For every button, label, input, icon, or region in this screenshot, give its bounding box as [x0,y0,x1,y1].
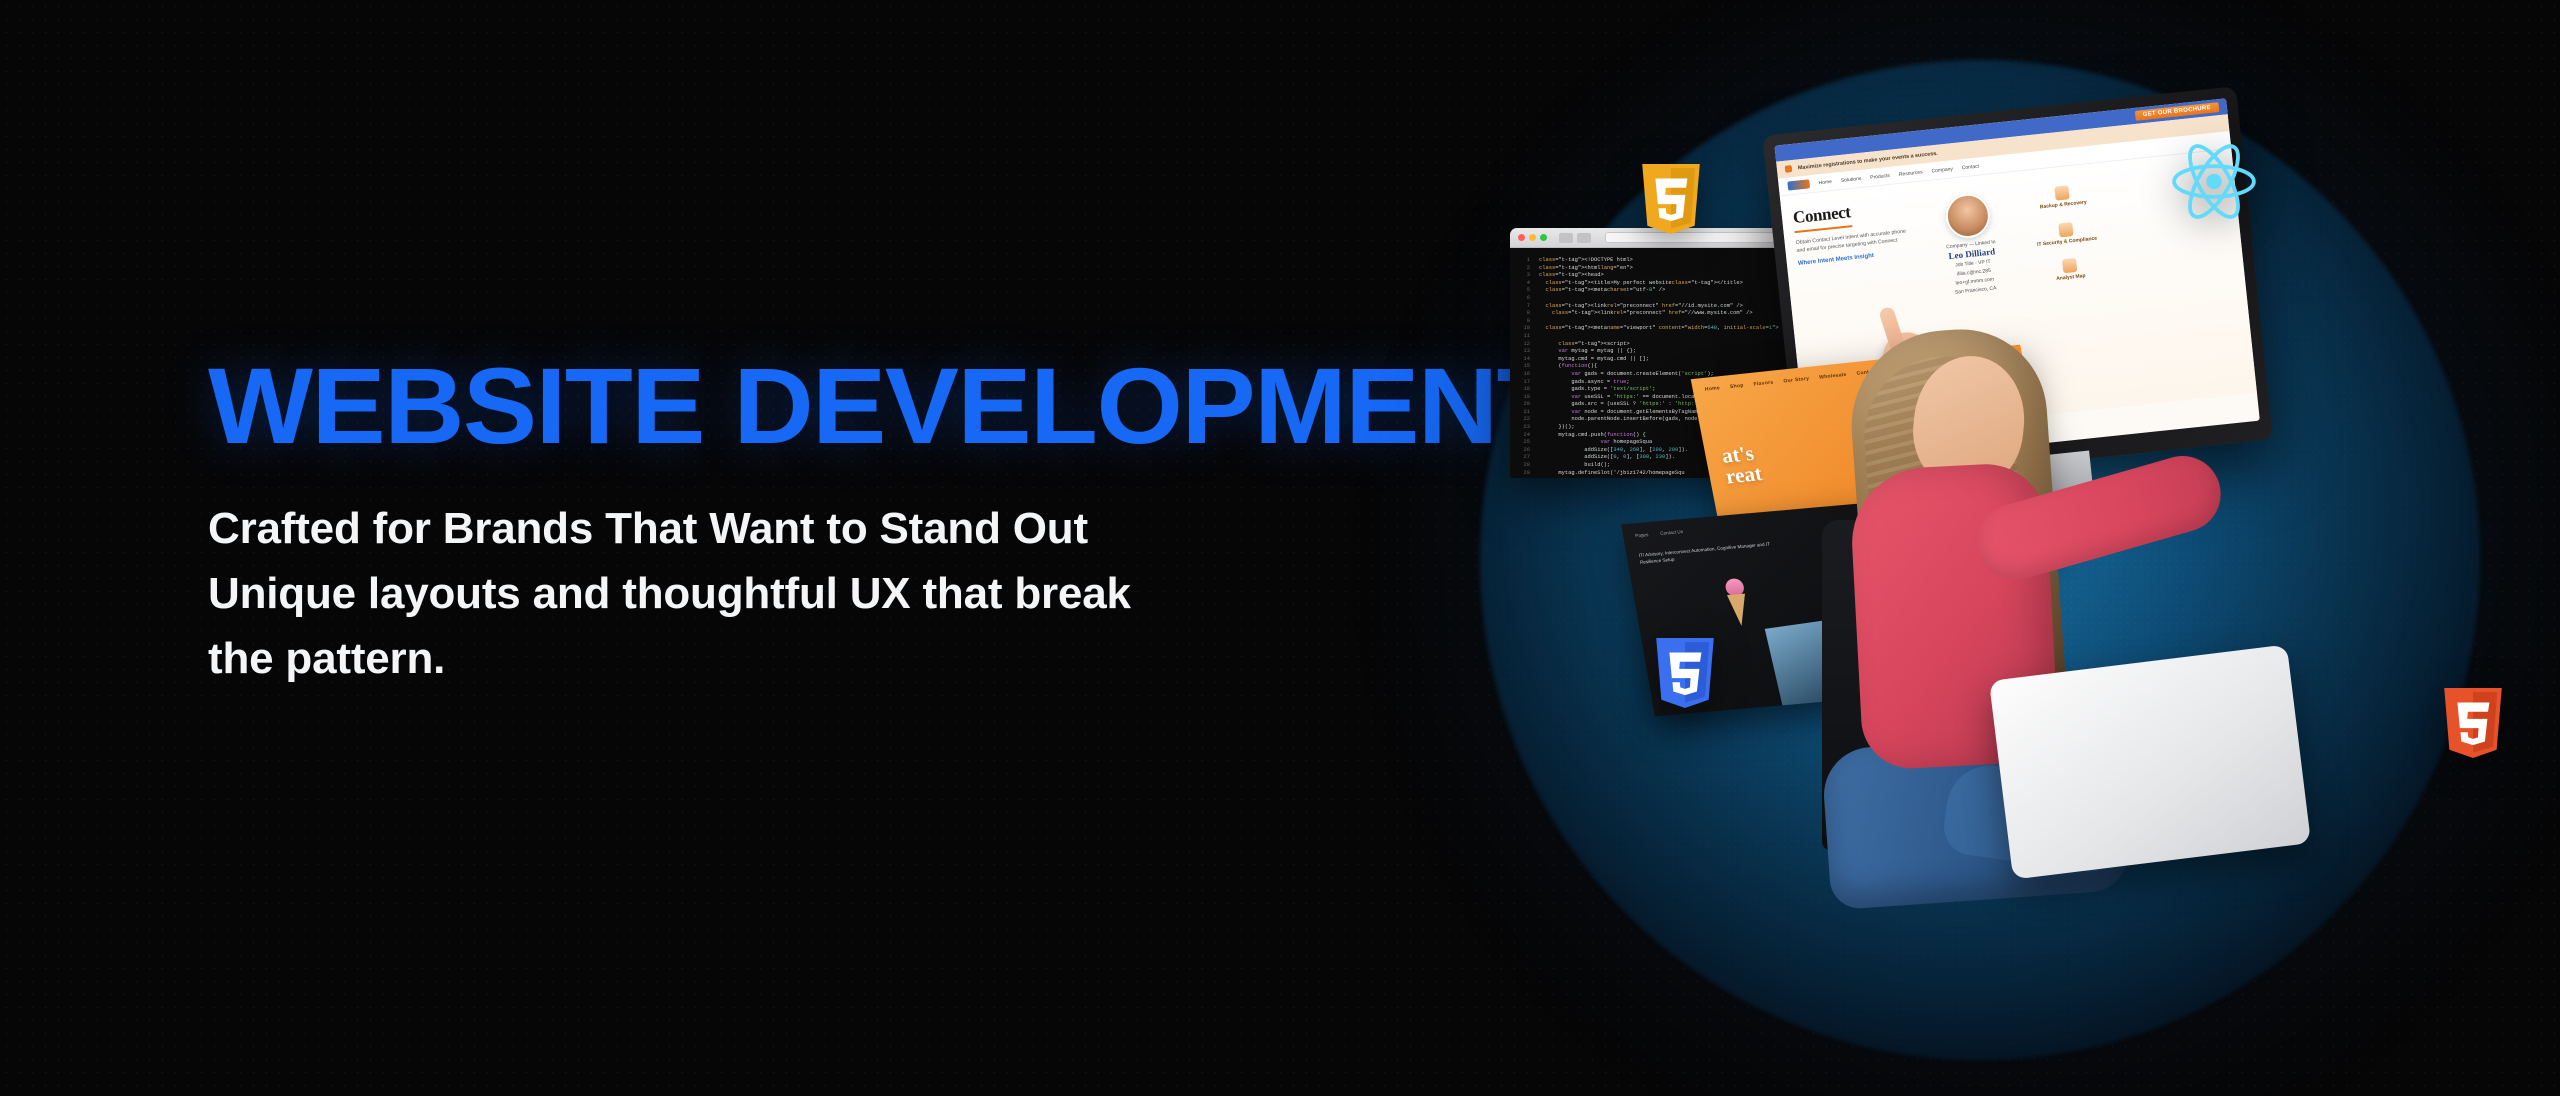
html5-badge-yellow [1638,162,1704,241]
person-illustration [1764,180,2194,900]
white-laptop [1989,644,2311,879]
html5-shield-icon [2440,686,2506,760]
nav-item[interactable]: Resources [1899,169,1923,177]
nav-item[interactable]: Contact [1961,163,1979,171]
subcopy-line-1: Crafted for Brands That Want to Stand Ou… [208,496,1208,561]
close-icon [1518,234,1525,241]
mockup-nav-item[interactable]: Pages [1635,532,1649,538]
hero-subcopy: Crafted for Brands That Want to Stand Ou… [208,496,1208,691]
maximize-icon [1540,234,1547,241]
hero-copy-block: WEBSITE DEVELOPMENT Crafted for Brands T… [208,352,1538,691]
subcopy-line-2: Unique layouts and thoughtful UX that br… [208,561,1208,626]
hero-banner: WEBSITE DEVELOPMENT Crafted for Brands T… [0,0,2560,1096]
ice-cream-icon [1724,578,1753,633]
poster-nav-item[interactable]: Home [1704,385,1720,392]
nav-item[interactable]: Company [1931,166,1953,174]
megaphone-icon [1785,165,1793,173]
hero-artwork: 1class="t-tag"><!DOCTYPE html>2class="t-… [1520,0,2560,1096]
react-atom-icon [2168,140,2260,223]
react-badge [2168,140,2258,228]
html5-badge-red [2440,686,2506,765]
poster-headline: at's reat [1720,442,1764,487]
css3-shield-icon [1652,636,1718,710]
minimize-icon [1529,234,1536,241]
html5-shield-icon [1638,162,1704,236]
poster-headline-line-2: reat [1724,461,1764,488]
page-title: WEBSITE DEVELOPMENT [208,352,1578,460]
subcopy-line-3: the pattern. [208,626,1208,691]
mockup-nav-item[interactable]: Contact Us [1660,529,1684,536]
css3-badge [1652,636,1718,715]
poster-nav-item[interactable]: Shop [1729,383,1744,390]
nav-buttons [1559,233,1591,243]
